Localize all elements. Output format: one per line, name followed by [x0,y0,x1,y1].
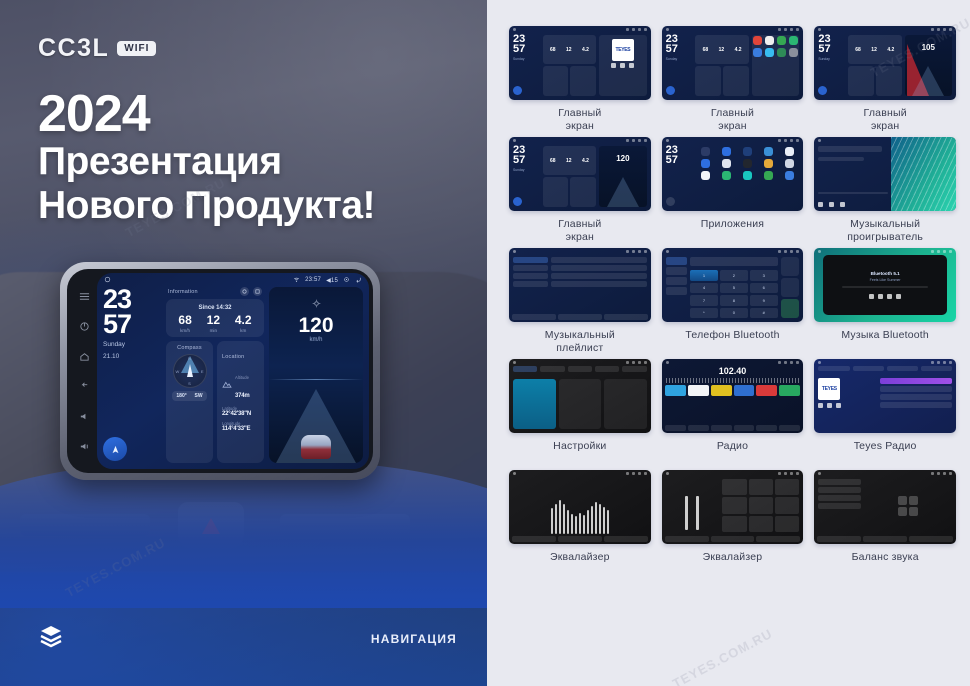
hero-footer: НАВИГАЦИЯ [38,623,457,654]
thumbnail-caption: Приложения [701,218,764,244]
thumbnail-caption: Музыкальныйплейлист [545,329,615,355]
thumbnail-caption: Музыкальныйпроигрыватель [847,218,923,244]
thumbnail-caption: Эквалайзер [703,551,763,577]
road-horizon [269,379,363,380]
information-header: Information [166,287,264,296]
screens-grid: 2357Sunday 68124.2 TEYES Главныйэкран [509,26,956,577]
status-icons: 23:57 ◀15 [293,276,362,285]
headline-block: 2024 Презентация Нового Продукта! [38,88,375,227]
thumbnail-caption: Главныйэкран [558,107,601,133]
thumbnail-caption: Телефон Bluetooth [685,329,779,355]
gallery-item[interactable]: Эквалайзер [662,470,804,577]
clock-column: 23 57 Sunday 21.10 [103,287,161,463]
bluetooth-track: Feels Like Summer [870,278,901,282]
trip-stat-unit: km [235,328,252,333]
head-unit-screen[interactable]: 23:57 ◀15 [97,273,369,469]
gallery-item[interactable]: Музыкальныйпроигрыватель [814,137,956,244]
trip-since-label: Since 14:32 [171,305,259,311]
screen-thumbnail-apps[interactable]: 2357 [662,137,804,211]
wifi-badge: WIFI [117,41,156,56]
screen-thumbnail-bluetooth-phone[interactable]: 123 456 789 *0# [662,248,804,322]
status-volume[interactable]: ◀15 [326,277,338,284]
gallery-item[interactable]: Настройки [509,359,651,466]
expand-icon[interactable] [253,287,262,296]
wifi-icon[interactable] [293,276,300,285]
hero-panel: CC3L WIFI 2024 Презентация Нового Продук… [0,0,487,686]
compass-s: S [188,381,191,386]
longitude-row: Longitude 114°4'33"E [222,421,259,432]
screen-thumbnail-home-speed[interactable]: 2357Sunday 68124.2 120 [509,137,651,211]
compass-n: N [188,356,191,361]
key-volume-down-icon[interactable] [78,412,90,421]
speed-value: 120 [298,315,333,336]
side-key-strip [71,273,97,469]
clock-minutes: 57 [103,312,161,337]
compass-e: E [201,369,204,374]
trip-stat-value: 68 [178,314,191,326]
bluetooth-version: Bluetooth 5.1 [871,271,900,276]
thumbnail-caption: Радио [717,440,748,466]
key-home-icon[interactable] [78,352,90,361]
gallery-item[interactable]: Баланс звука [814,470,956,577]
compass-readout: 180° SW [172,391,206,401]
clock-widget[interactable]: 23 57 Sunday 21.10 [103,287,161,362]
trip-stat: 4.2 km [235,314,252,333]
equalizer-bars[interactable] [509,477,651,536]
key-volume-up-icon[interactable] [78,442,90,451]
screen-thumbnail-radio[interactable]: 102.40 [662,359,804,433]
screen-thumbnail-equalizer-controls[interactable] [662,470,804,544]
compass-w: W [176,369,180,374]
refresh-icon[interactable] [240,287,249,296]
gear-icon[interactable] [343,276,350,285]
gallery-item[interactable]: 123 456 789 *0# Телефон Bluetooth [662,248,804,355]
headline-year: 2024 [38,88,375,140]
lower-widgets-row: Compass N S W E [166,341,264,463]
information-widget[interactable]: Information [166,287,264,337]
thumbnail-caption: Главныйэкран [558,218,601,244]
clock-date: 21.10 [103,353,161,362]
altitude-label: Altitude [235,375,249,380]
layers-icon [38,623,64,654]
speed-widget[interactable]: 120 km/h [269,287,363,463]
balance-pad[interactable] [864,479,952,532]
altitude-row: Altitude 374m [222,366,259,402]
widgets-column: Information [166,287,264,463]
compass-degrees: 180° [176,393,186,399]
status-bar: 23:57 ◀15 [97,273,369,287]
gallery-item[interactable]: Эквалайзер [509,470,651,577]
trip-stat-unit: min [207,328,220,333]
screen-thumbnail-home-speed-red[interactable]: 2357Sunday 68124.2 105 [814,26,956,100]
trip-stat-unit: km/h [178,328,191,333]
screen-thumbnail-bluetooth-music[interactable]: Bluetooth 5.1 Feels Like Summer [814,248,956,322]
watermark: TEYES.COM.RU [670,626,775,686]
key-power-icon[interactable] [78,322,90,331]
screen-thumbnail-playlist[interactable] [509,248,651,322]
gallery-item[interactable]: Bluetooth 5.1 Feels Like Summer Музыка B… [814,248,956,355]
headline-line-1: Презентация [38,140,375,184]
compass-needle-icon [187,364,193,377]
location-title: Location [222,354,244,360]
thumbnail-caption: Баланс звука [852,551,919,577]
radio-frequency: 102.40 [666,366,800,376]
screen-content: 23 57 Sunday 21.10 [97,287,369,469]
gallery-item[interactable]: Музыкальныйплейлист [509,248,651,355]
mountain-icon [222,375,232,393]
trip-stat: 12 min [207,314,220,333]
thumbnail-speed-value: 120 [599,154,646,163]
thumbnail-caption: Главныйэкран [711,107,754,133]
status-time: 23:57 [305,277,321,283]
car-graphic [301,435,331,459]
gallery-item[interactable]: 102.40 Радио [662,359,804,466]
product-logo: CC3L WIFI [38,34,156,63]
trip-stats-card: Since 14:32 68 km/h 12 [166,299,264,337]
trip-stats-row: 68 km/h 12 min [171,314,259,333]
presentation-page: CC3L WIFI 2024 Презентация Нового Продук… [0,0,970,686]
logo-text: CC3L [38,34,109,63]
screens-gallery-panel: 2357Sunday 68124.2 TEYES Главныйэкран [487,0,970,686]
thumbnail-caption: Эквалайзер [550,551,610,577]
key-menu-icon[interactable] [78,292,90,301]
information-actions [240,287,262,296]
bluetooth-card: Bluetooth 5.1 Feels Like Summer [823,255,947,315]
navigation-fab-button[interactable] [103,437,127,461]
back-arrow-icon[interactable] [355,276,362,285]
head-unit-device: 23:57 ◀15 [60,262,380,480]
gallery-item[interactable]: TEYES Teyes Радио [814,359,956,466]
screen-thumbnail-home-apps[interactable]: 2357Sunday 68124.2 [662,26,804,100]
altitude-value: 374m [235,393,250,399]
screen-thumbnail-music-player[interactable] [814,137,956,211]
longitude-value: 114°4'33"E [222,426,259,432]
thumbnail-caption: Главныйэкран [864,107,907,133]
screen-thumbnail-teyes-radio[interactable]: TEYES [814,359,956,433]
latitude-row: Latitude 22°42'38"N [222,406,259,417]
trip-stat-value: 4.2 [235,314,252,326]
thumbnail-speed-value: 105 [905,43,952,52]
trip-stat: 68 km/h [178,314,191,333]
information-title: Information [168,289,198,295]
screen-thumbnail-settings[interactable] [509,359,651,433]
latitude-value: 22°42'38"N [222,411,259,417]
screen-thumbnail-home-music[interactable]: 2357Sunday 68124.2 TEYES [509,26,651,100]
head-unit-bezel: 23:57 ◀15 [67,269,373,473]
compass-widget[interactable]: Compass N S W E [166,341,213,463]
thumbnail-caption: Teyes Радио [854,440,917,466]
speed-unit: km/h [309,337,322,343]
gallery-item[interactable]: 2357 Приложения [662,137,804,244]
dashboard-hood [0,458,487,608]
gallery-item[interactable]: 2357Sunday 68124.2 TEYES Главныйэкран [509,26,651,133]
album-art-waves [891,137,956,211]
screen-thumbnail-sound-balance[interactable] [814,470,956,544]
navigation-label: НАВИГАЦИЯ [371,632,457,646]
gallery-item[interactable]: 2357Sunday 68124.2 105 Главныйэкран [814,26,956,133]
compass-direction: SW [195,393,203,399]
thumbnail-caption: Настройки [553,440,606,466]
dashboard-illustration: 23:57 ◀15 [0,262,487,602]
compass-title: Compass [177,345,202,351]
thumbnail-caption: Музыка Bluetooth [841,329,929,355]
key-back-icon[interactable] [78,382,90,391]
location-widget[interactable]: Location Altitude 374m [217,341,264,463]
screen-thumbnail-equalizer-bars[interactable] [509,470,651,544]
clock-day: Sunday [103,341,161,350]
compass-dial: N S W E [173,354,207,388]
trip-stat-value: 12 [207,314,220,326]
headline-line-2: Нового Продукта! [38,184,375,228]
headlight-icon [312,295,321,313]
gallery-item[interactable]: 2357Sunday 68124.2 Главныйэкран [662,26,804,133]
gallery-item[interactable]: 2357Sunday 68124.2 120 Главныйэкран [509,137,651,244]
